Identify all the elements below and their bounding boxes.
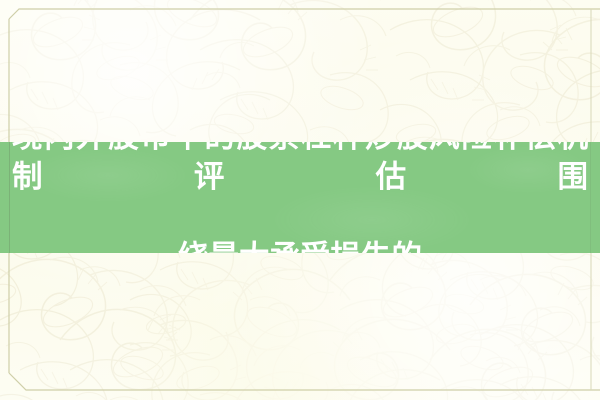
poster-title-line-2: 绕最大承受损失的 [12, 238, 588, 254]
banner-border-rule-left [9, 142, 10, 253]
banner-border-rule-right [590, 142, 591, 253]
poster-title: 境内外股市中的股票杠杆炒股风险补偿机制评估围 绕最大承受损失的 [12, 142, 588, 253]
poster-canvas: 境内外股市中的股票杠杆炒股风险补偿机制评估围 绕最大承受损失的 [0, 0, 600, 400]
title-banner: 境内外股市中的股票杠杆炒股风险补偿机制评估围 绕最大承受损失的 [0, 142, 600, 253]
poster-title-line-1: 境内外股市中的股票杠杆炒股风险补偿机制评估围 [12, 142, 588, 198]
